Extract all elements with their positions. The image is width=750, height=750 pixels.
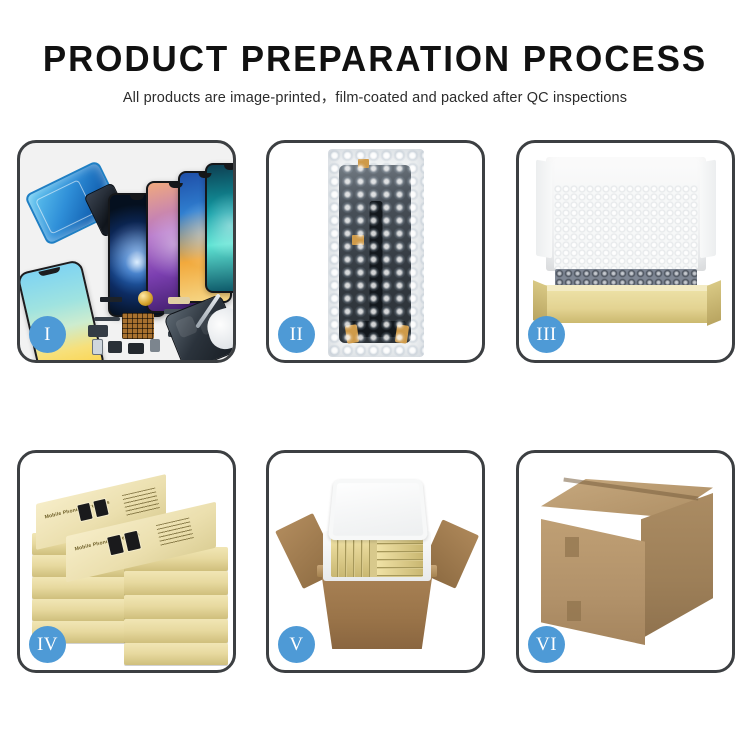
inner-yellow-boxes-group: [331, 537, 423, 577]
stacked-box: [124, 619, 228, 643]
speaker-module-icon: [138, 291, 153, 306]
stacked-box: [32, 599, 128, 621]
foam-lid-icon: [546, 157, 706, 271]
stacked-box: [124, 571, 228, 595]
open-carton-group: [295, 475, 459, 651]
vibrator-icon: [128, 343, 144, 354]
product-preparation-process-page: PRODUCT PREPARATION PROCESS All products…: [0, 0, 750, 750]
stacked-box: [124, 643, 228, 665]
process-step-card-1[interactable]: I: [17, 140, 236, 363]
tape-piece-icon: [352, 235, 364, 245]
screw-set-icon: [150, 339, 160, 352]
process-step-grid: I II: [0, 0, 750, 750]
step-badge-2: II: [278, 316, 315, 353]
carton-tape-icon: [567, 601, 581, 621]
process-step-card-6[interactable]: VI: [516, 450, 735, 673]
lid-flap-right-icon: [700, 160, 716, 259]
copper-mesh-icon: [122, 313, 154, 339]
carton-front-face: [541, 519, 645, 645]
tape-piece-icon: [344, 324, 358, 343]
styrofoam-lid-icon: [328, 480, 428, 540]
foam-sheet-icon: [554, 185, 698, 269]
display-cable-icon: [369, 201, 382, 337]
process-step-card-3[interactable]: III: [516, 140, 735, 363]
step-badge-5: V: [278, 626, 315, 663]
sealed-carton-group: [541, 479, 713, 647]
bubble-wrap-bag-icon: [328, 149, 424, 357]
connector-icon: [88, 325, 108, 337]
tape-piece-icon: [358, 159, 369, 168]
camera-module-icon: [108, 341, 122, 353]
step-badge-4: IV: [29, 626, 66, 663]
yellow-carton-tray-icon: [541, 291, 713, 323]
process-step-card-2[interactable]: II: [266, 140, 485, 363]
phone-screen-4-icon: [205, 163, 236, 293]
tape-piece-icon: [394, 324, 408, 343]
carton-body-icon: [321, 571, 433, 649]
flex-cable-icon: [94, 317, 120, 321]
antenna-strip-icon: [168, 297, 190, 304]
stacked-box: [32, 577, 128, 599]
process-step-card-5[interactable]: V: [266, 450, 485, 673]
step-badge-3: III: [528, 316, 565, 353]
step-badge-1: I: [29, 316, 66, 353]
earpiece-icon: [100, 297, 122, 302]
carton-tape-icon: [565, 537, 579, 557]
sim-tray-icon: [92, 339, 103, 355]
stacked-box: [124, 595, 228, 619]
lid-flap-left-icon: [536, 160, 552, 259]
step-badge-6: VI: [528, 626, 565, 663]
process-step-card-4[interactable]: Mobile Phone Spare Parts Mobile Phone Sp…: [17, 450, 236, 673]
